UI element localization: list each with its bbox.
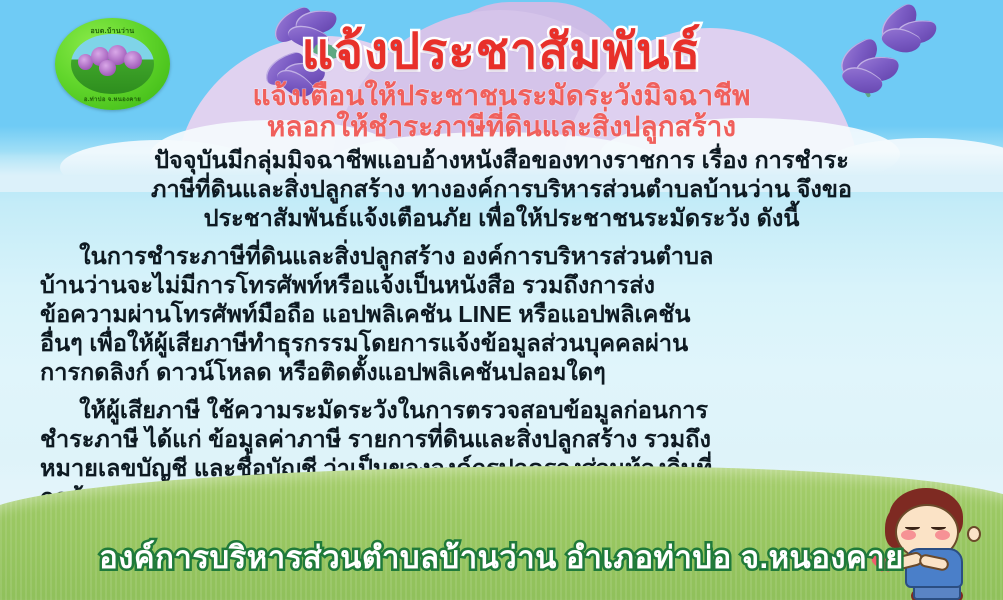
subtitle-line-2: หลอกให้ชำระภาษีที่ดินและสิ่งปลูกสร้าง <box>0 111 1003 142</box>
paragraph-2: ในการชำระภาษีที่ดินและสิ่งปลูกสร้าง องค์… <box>0 242 1003 387</box>
announcement-poster: อบต.บ้านว่าน อ.ท่าบ่อ จ.หนองคาย แจ้งประช… <box>0 0 1003 600</box>
page-title: แจ้งประชาสัมพันธ์ <box>0 12 1003 90</box>
announcement-body: ปัจจุบันมีกลุ่มมิจฉาชีพแอบอ้างหนังสือของ… <box>0 146 1003 521</box>
paragraph-line: ภาษีที่ดินและสิ่งปลูกสร้าง ทางองค์การบริ… <box>0 175 1003 204</box>
paragraph-line: บ้านว่านจะไม่มีการโทรศัพท์หรือแจ้งเป็นหน… <box>40 271 1003 300</box>
paragraph-line: อื่นๆ เพื่อให้ผู้เสียภาษีทำธุรกรรมโดยการ… <box>40 329 1003 358</box>
paragraph-1: ปัจจุบันมีกลุ่มมิจฉาชีพแอบอ้างหนังสือของ… <box>0 146 1003 233</box>
subtitle: แจ้งเตือนให้ประชาชนระมัดระวังมิจฉาชีพ หล… <box>0 80 1003 142</box>
paragraph-line: ในการชำระภาษีที่ดินและสิ่งปลูกสร้าง องค์… <box>40 242 1003 271</box>
paragraph-line: ประชาสัมพันธ์แจ้งเตือนภัย เพื่อให้ประชาช… <box>0 204 1003 233</box>
paragraph-line: ปัจจุบันมีกลุ่มมิจฉาชีพแอบอ้างหนังสือของ… <box>0 146 1003 175</box>
mascot-eye-right <box>931 524 946 530</box>
paragraph-line: ให้ผู้เสียภาษี ใช้ความระมัดระวังในการตรว… <box>40 396 1003 425</box>
mascot-eye-left <box>905 524 920 530</box>
footer-organization-name: องค์การบริหารส่วนตำบลบ้านว่าน อำเภอท่าบ่… <box>0 532 1003 582</box>
paragraph-line: ชำระภาษี ได้แก่ ข้อมูลค่าภาษี รายการที่ด… <box>40 425 1003 454</box>
paragraph-line: ข้อความผ่านโทรศัพท์มือถือ แอปพลิเคชัน LI… <box>40 300 1003 329</box>
subtitle-line-1: แจ้งเตือนให้ประชาชนระมัดระวังมิจฉาชีพ <box>0 80 1003 111</box>
paragraph-line: การกดลิงก์ ดาวน์โหลด หรือติดตั้งแอปพลิเค… <box>40 358 1003 387</box>
